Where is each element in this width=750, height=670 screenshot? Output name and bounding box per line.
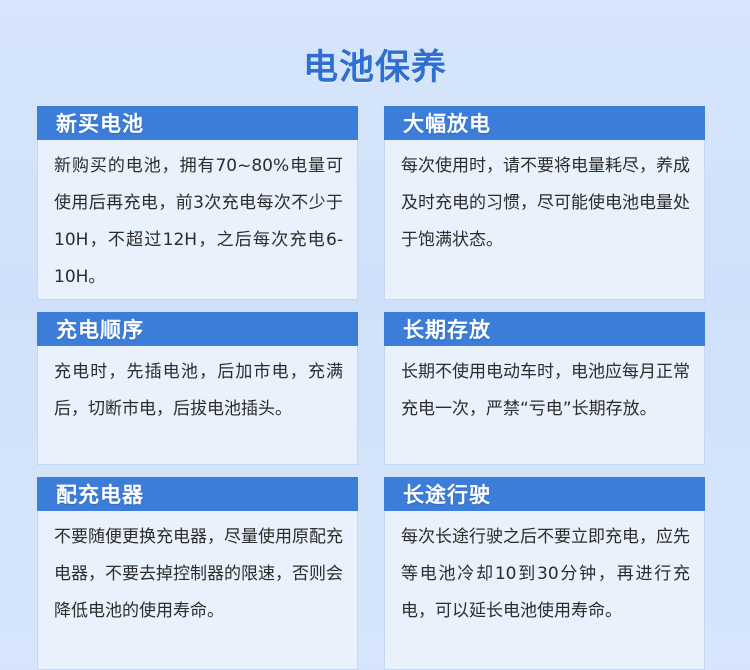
tip-card-charging-order: 充电顺序 充电时，先插电池，后加市电，充满后，切断市电，后拔电池插头。 (37, 312, 358, 465)
tip-card-text: 不要随便更换充电器，尽量使用原配充电器，不要去掉控制器的限速，否则会降低电池的使… (37, 511, 358, 670)
tip-card-matched-charger: 配充电器 不要随便更换充电器，尽量使用原配充电器，不要去掉控制器的限速，否则会降… (37, 477, 358, 670)
page-title: 电池保养 (0, 46, 750, 90)
tip-card-long-term-storage: 长期存放 长期不使用电动车时，电池应每月正常充电一次，严禁“亏电”长期存放。 (384, 312, 705, 465)
tip-card-title: 新买电池 (37, 106, 358, 140)
tip-card-title: 长期存放 (384, 312, 705, 346)
tips-card-grid: 新买电池 新购买的电池，拥有70~80%电量可使用后再充电，前3次充电每次不少于… (37, 106, 705, 670)
tip-card-text: 充电时，先插电池，后加市电，充满后，切断市电，后拔电池插头。 (37, 346, 358, 465)
tip-card-long-distance-riding: 长途行驶 每次长途行驶之后不要立即充电，应先等电池冷却10到30分钟，再进行充电… (384, 477, 705, 670)
tip-card-title: 充电顺序 (37, 312, 358, 346)
tip-card-title: 长途行驶 (384, 477, 705, 511)
tip-card-text: 每次使用时，请不要将电量耗尽，养成及时充电的习惯，尽可能使电池电量处于饱满状态。 (384, 140, 705, 300)
tip-card-text: 每次长途行驶之后不要立即充电，应先等电池冷却10到30分钟，再进行充电，可以延长… (384, 511, 705, 670)
tip-card-new-battery: 新买电池 新购买的电池，拥有70~80%电量可使用后再充电，前3次充电每次不少于… (37, 106, 358, 300)
battery-maintenance-infographic: 电池保养 新买电池 新购买的电池，拥有70~80%电量可使用后再充电，前3次充电… (0, 0, 750, 645)
tip-card-text: 新购买的电池，拥有70~80%电量可使用后再充电，前3次充电每次不少于10H，不… (37, 140, 358, 300)
tip-card-deep-discharge: 大幅放电 每次使用时，请不要将电量耗尽，养成及时充电的习惯，尽可能使电池电量处于… (384, 106, 705, 300)
tip-card-title: 大幅放电 (384, 106, 705, 140)
tip-card-text: 长期不使用电动车时，电池应每月正常充电一次，严禁“亏电”长期存放。 (384, 346, 705, 465)
tip-card-title: 配充电器 (37, 477, 358, 511)
